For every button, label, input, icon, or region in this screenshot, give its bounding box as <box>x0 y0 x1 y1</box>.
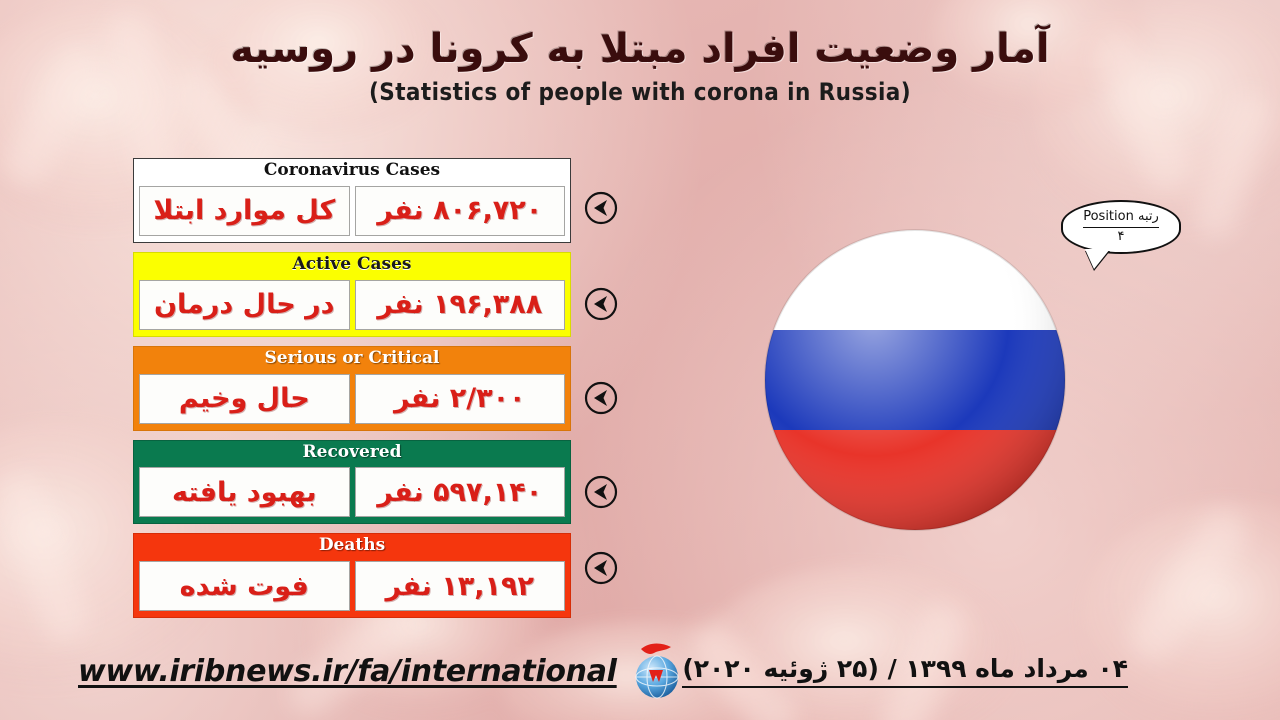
stat-value-cell-recovered: ۵۹۷,۱۴۰ نفر <box>355 467 566 517</box>
stat-body-deaths: فوت شده ۱۳,۱۹۲ نفر <box>134 557 570 617</box>
row-pointer-list <box>578 158 624 598</box>
footer-branding: www.iribnews.ir/fa/international <box>78 640 687 702</box>
position-badge-title: رتبه Position <box>1069 210 1173 224</box>
stat-value-active: ۱۹۶,۳۸۸ نفر <box>377 289 542 320</box>
stat-card-serious: Serious or Critical حال وخیم ۲/۳۰۰ نفر <box>133 346 571 431</box>
stat-header-serious: Serious or Critical <box>134 347 570 370</box>
stat-label-total: کل موارد ابتلا <box>153 195 335 226</box>
stat-card-active: Active Cases در حال درمان ۱۹۶,۳۸۸ نفر <box>133 252 571 337</box>
stat-header-active: Active Cases <box>134 253 570 276</box>
stat-value-cell-active: ۱۹۶,۳۸۸ نفر <box>355 280 566 330</box>
irib-globe-logo-icon <box>627 640 687 702</box>
position-badge-rank: ۴ <box>1069 230 1173 244</box>
website-url[interactable]: www.iribnews.ir/fa/international <box>78 654 617 689</box>
stat-label-serious: حال وخیم <box>179 383 310 414</box>
stat-value-cell-deaths: ۱۳,۱۹۲ نفر <box>355 561 566 611</box>
position-badge-oval: رتبه Position ۴ <box>1061 200 1181 254</box>
stat-label-deaths: فوت شده <box>180 571 309 602</box>
stat-label-cell-deaths: فوت شده <box>139 561 350 611</box>
position-badge: رتبه Position ۴ <box>1061 200 1181 254</box>
stat-label-cell-active: در حال درمان <box>139 280 350 330</box>
stat-label-cell-total: کل موارد ابتلا <box>139 186 350 236</box>
stat-card-recovered: Recovered بهبود یافته ۵۹۷,۱۴۰ نفر <box>133 440 571 525</box>
chevron-left-circle-icon-total <box>578 158 624 257</box>
stat-header-deaths: Deaths <box>134 534 570 557</box>
stat-card-deaths: Deaths فوت شده ۱۳,۱۹۲ نفر <box>133 533 571 618</box>
stat-card-total: Coronavirus Cases کل موارد ابتلا ۸۰۶,۷۲۰… <box>133 158 571 243</box>
position-badge-divider <box>1083 227 1159 228</box>
stat-header-total: Coronavirus Cases <box>134 159 570 182</box>
stat-value-serious: ۲/۳۰۰ نفر <box>394 383 526 414</box>
page-title-block: آمار وضعیت افراد مبتلا به کرونا در روسیه… <box>0 26 1280 106</box>
stat-label-cell-recovered: بهبود یافته <box>139 467 350 517</box>
page-subtitle: (Statistics of people with corona in Rus… <box>0 78 1280 106</box>
stat-value-cell-total: ۸۰۶,۷۲۰ نفر <box>355 186 566 236</box>
stat-label-active: در حال درمان <box>154 289 335 320</box>
chevron-left-circle-icon-recovered <box>578 445 624 538</box>
publication-date: ۰۴ مرداد ماه ۱۳۹۹ / (۲۵ ژوئیه ۲۰۲۰) <box>682 654 1128 688</box>
stat-body-total: کل موارد ابتلا ۸۰۶,۷۲۰ نفر <box>134 182 570 242</box>
position-badge-tail <box>1085 249 1110 269</box>
stat-value-deaths: ۱۳,۱۹۲ نفر <box>386 571 534 602</box>
stat-header-recovered: Recovered <box>134 441 570 464</box>
chevron-left-circle-icon-deaths <box>578 538 624 598</box>
stat-label-recovered: بهبود یافته <box>172 477 317 508</box>
chevron-left-circle-icon-serious <box>578 351 624 445</box>
stat-body-active: در حال درمان ۱۹۶,۳۸۸ نفر <box>134 276 570 336</box>
stat-value-recovered: ۵۹۷,۱۴۰ نفر <box>377 477 542 508</box>
stat-value-cell-serious: ۲/۳۰۰ نفر <box>355 374 566 424</box>
page-title: آمار وضعیت افراد مبتلا به کرونا در روسیه <box>0 26 1280 72</box>
stat-label-cell-serious: حال وخیم <box>139 374 350 424</box>
statistics-list: Coronavirus Cases کل موارد ابتلا ۸۰۶,۷۲۰… <box>133 158 571 627</box>
stat-body-serious: حال وخیم ۲/۳۰۰ نفر <box>134 370 570 430</box>
stat-value-total: ۸۰۶,۷۲۰ نفر <box>377 195 542 226</box>
chevron-left-circle-icon-active <box>578 257 624 351</box>
stat-body-recovered: بهبود یافته ۵۹۷,۱۴۰ نفر <box>134 463 570 523</box>
